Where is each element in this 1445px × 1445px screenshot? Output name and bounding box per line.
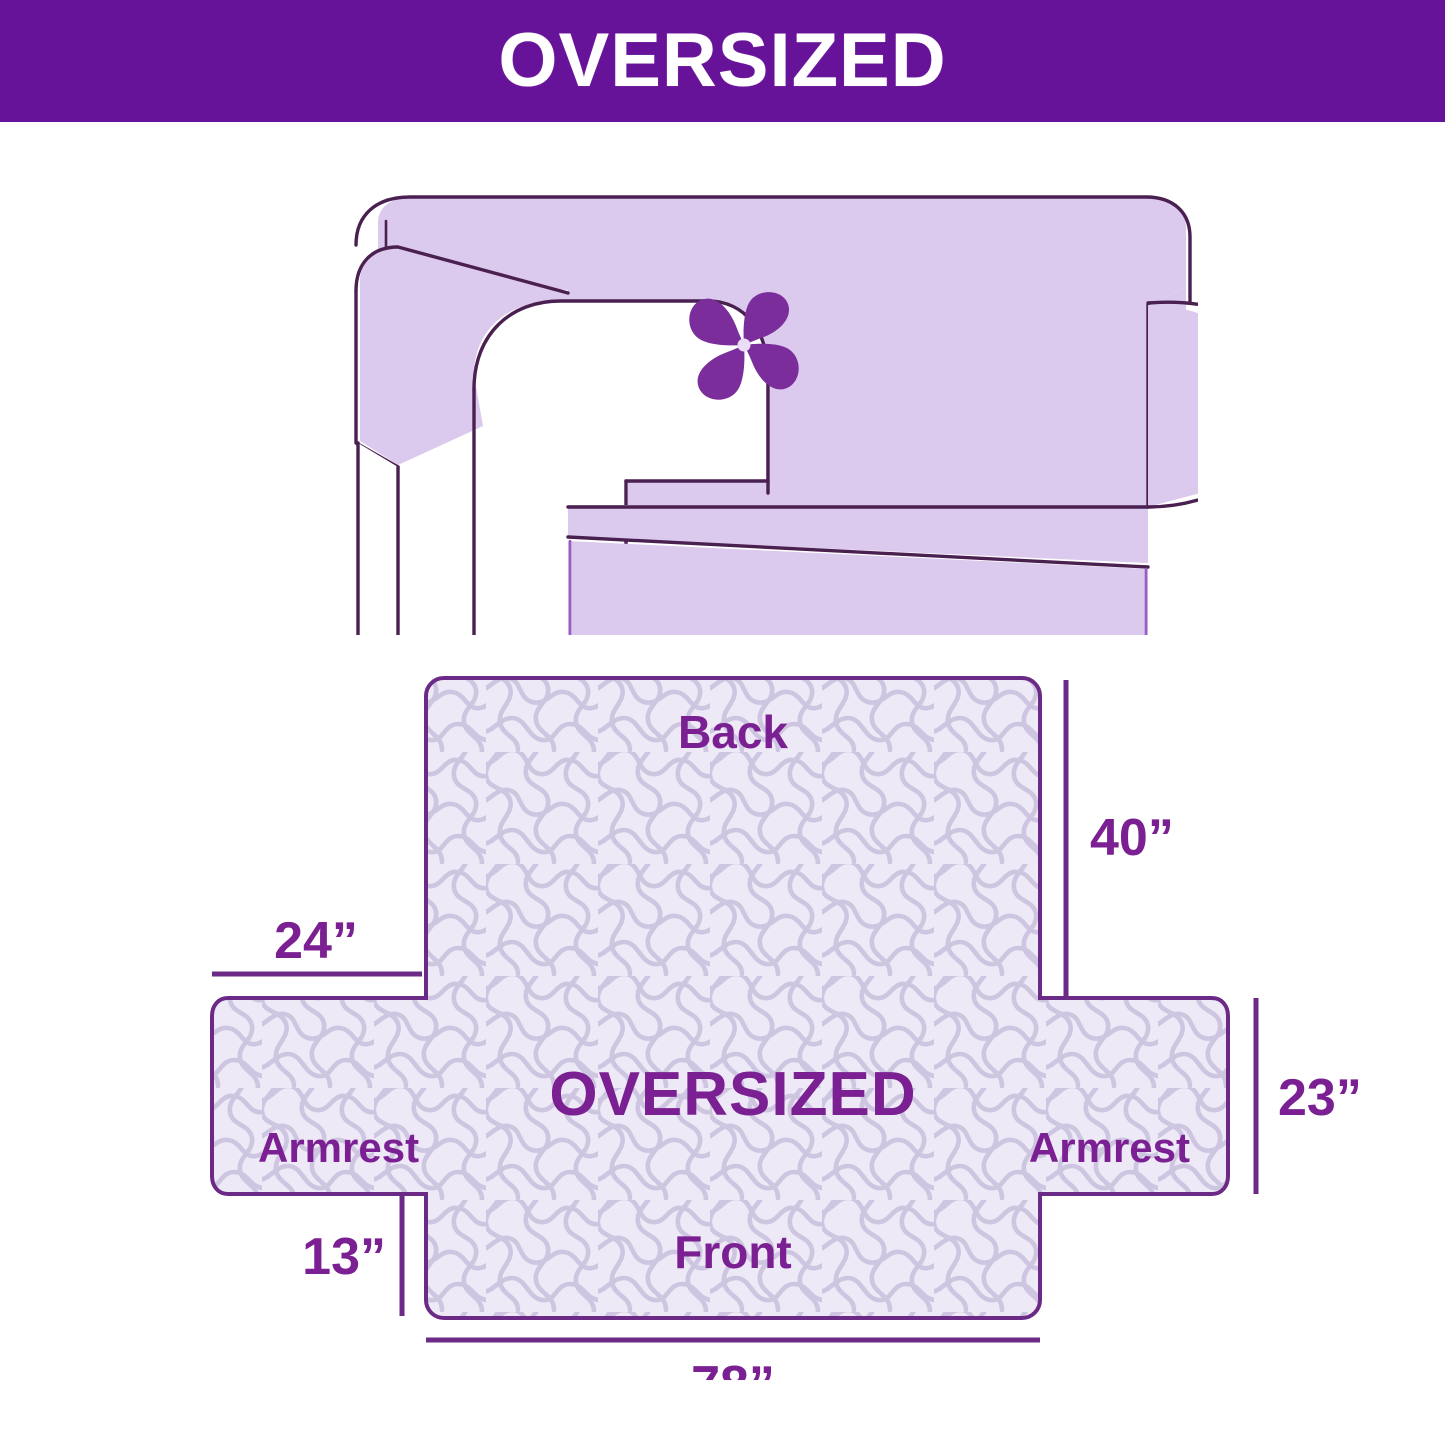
dim-13: 13” bbox=[302, 1228, 386, 1286]
size-chart-page: OVERSIZED .ol { fill:none; stroke:#4A205… bbox=[0, 0, 1445, 1445]
dim-24: 24” bbox=[274, 912, 358, 970]
header-banner: OVERSIZED bbox=[0, 0, 1445, 122]
label-armrest-right: Armrest bbox=[1029, 1124, 1190, 1171]
label-front: Front bbox=[674, 1226, 792, 1278]
dim-78: 78” bbox=[691, 1356, 775, 1380]
flat-layout-diagram: Back OVERSIZED Armrest Armrest Front 40” bbox=[150, 640, 1380, 1380]
dim-23: 23” bbox=[1278, 1069, 1362, 1127]
label-center-oversized: OVERSIZED bbox=[549, 1060, 916, 1129]
label-armrest-left: Armrest bbox=[258, 1124, 419, 1171]
dim-40: 40” bbox=[1090, 809, 1174, 867]
page-title: OVERSIZED bbox=[498, 23, 946, 99]
slipcover-flat-shape bbox=[212, 678, 1228, 1318]
label-back: Back bbox=[678, 706, 788, 758]
sofa-illustration: .ol { fill:none; stroke:#4A2050; stroke-… bbox=[268, 175, 1198, 635]
sofa-left-skirt bbox=[358, 443, 476, 635]
